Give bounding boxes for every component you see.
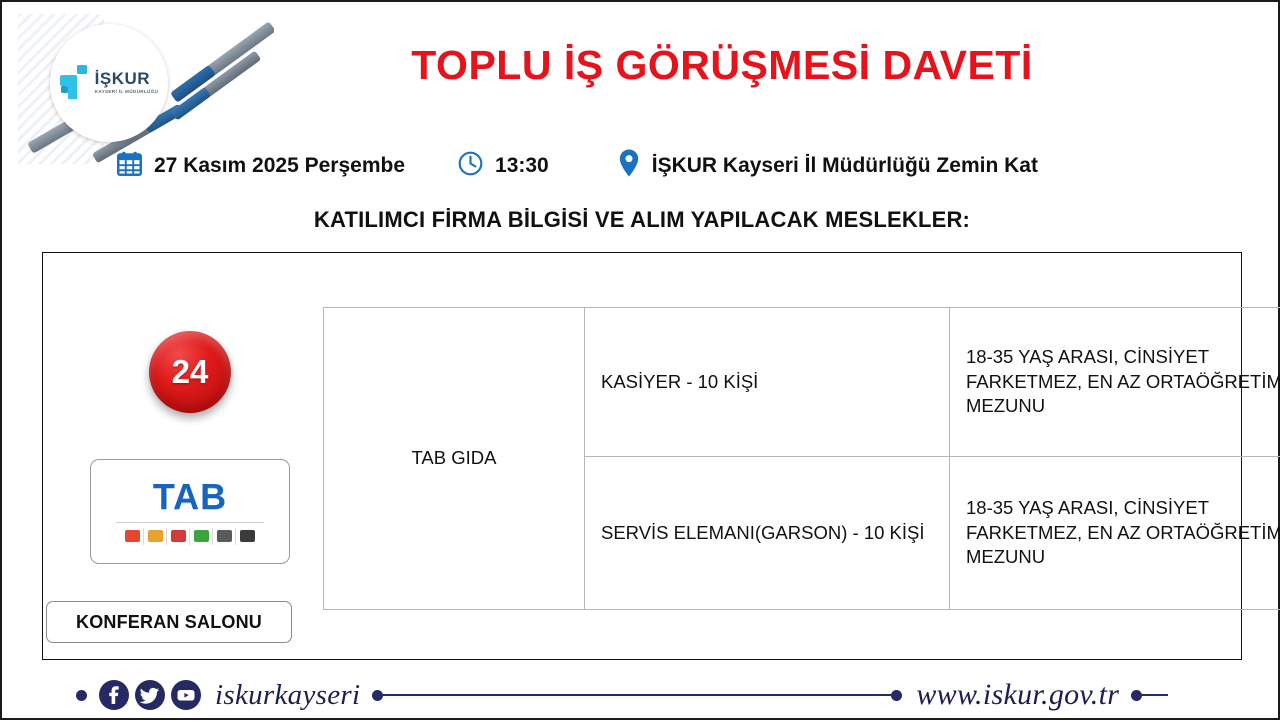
- footer-line: [383, 694, 891, 696]
- company-logo-text: TAB: [153, 479, 227, 515]
- footer-dot: [891, 690, 902, 701]
- table-row: TAB GIDA KASİYER - 10 KİŞİ 18-35 YAŞ ARA…: [324, 308, 1280, 457]
- jobs-table: TAB GIDA KASİYER - 10 KİŞİ 18-35 YAŞ ARA…: [323, 307, 1280, 610]
- event-time-text: 13:30: [495, 154, 549, 178]
- cell-requirements: 18-35 YAŞ ARASI, CİNSİYET FARKETMEZ, EN …: [950, 457, 1280, 610]
- brand-icon: [168, 528, 190, 545]
- calendar-icon: [116, 150, 143, 183]
- map-pin-icon: [617, 148, 641, 184]
- iskur-logo: İŞKUR KAYSERİ İL MÜDÜRLÜĞÜ: [50, 24, 168, 142]
- event-location: İŞKUR Kayseri İl Müdürlüğü Zemin Kat: [617, 148, 1038, 184]
- cell-occupation: KASİYER - 10 KİŞİ: [585, 308, 950, 457]
- event-date: 27 Kasım 2025 Perşembe: [116, 150, 405, 183]
- page-title: TOPLU İŞ GÖRÜŞMESİ DAVETİ: [342, 42, 1102, 89]
- footer-dot: [372, 690, 383, 701]
- footer: iskurkayseri www.iskur.gov.tr: [2, 668, 1280, 722]
- status-badge: 24: [149, 331, 231, 413]
- pen-icon: [170, 21, 274, 102]
- divider: [116, 522, 264, 523]
- cell-company-name: TAB GIDA: [324, 308, 585, 610]
- section-subtitle: KATILIMCI FİRMA BİLGİSİ VE ALIM YAPILACA…: [2, 207, 1280, 233]
- brand-icon: [145, 528, 167, 545]
- iskur-logo-mark: [60, 65, 90, 99]
- twitter-icon[interactable]: [135, 680, 165, 710]
- event-time: 13:30: [457, 150, 549, 183]
- facebook-icon[interactable]: [99, 680, 129, 710]
- pen-icon: [171, 50, 262, 120]
- event-location-text: İŞKUR Kayseri İl Müdürlüğü Zemin Kat: [652, 154, 1038, 178]
- footer-dot: [1131, 690, 1142, 701]
- content-card: 24 TAB KONFERAN SALONU TAB GIDA: [42, 252, 1242, 660]
- social-handle: iskurkayseri: [215, 679, 360, 712]
- cell-occupation: SERVİS ELEMANI(GARSON) - 10 KİŞİ: [585, 457, 950, 610]
- brand-icon: [214, 528, 236, 545]
- cell-requirements: 18-35 YAŞ ARASI, CİNSİYET FARKETMEZ, EN …: [950, 308, 1280, 457]
- company-left-column: 24 TAB: [65, 331, 315, 564]
- event-meta-row: 27 Kasım 2025 Perşembe 13:30 İŞKUR Kayse…: [112, 147, 1232, 185]
- iskur-logo-subtitle: KAYSERİ İL MÜDÜRLÜĞÜ: [95, 90, 159, 95]
- brand-icon: [191, 528, 213, 545]
- hall-label: KONFERAN SALONU: [46, 601, 292, 643]
- brand-icon: [122, 528, 144, 545]
- iskur-logo-name: İŞKUR: [95, 70, 159, 87]
- footer-line: [1142, 694, 1168, 696]
- footer-dot: [76, 690, 87, 701]
- clock-icon: [457, 150, 484, 183]
- company-logo-box: TAB: [90, 459, 290, 564]
- brand-icons-row: [122, 528, 258, 545]
- poster-root: İŞKUR KAYSERİ İL MÜDÜRLÜĞÜ TOPLU İŞ GÖRÜ…: [0, 0, 1280, 720]
- website-text: www.iskur.gov.tr: [916, 678, 1119, 712]
- event-date-text: 27 Kasım 2025 Perşembe: [154, 154, 405, 178]
- youtube-icon[interactable]: [171, 680, 201, 710]
- brand-icon: [237, 528, 258, 545]
